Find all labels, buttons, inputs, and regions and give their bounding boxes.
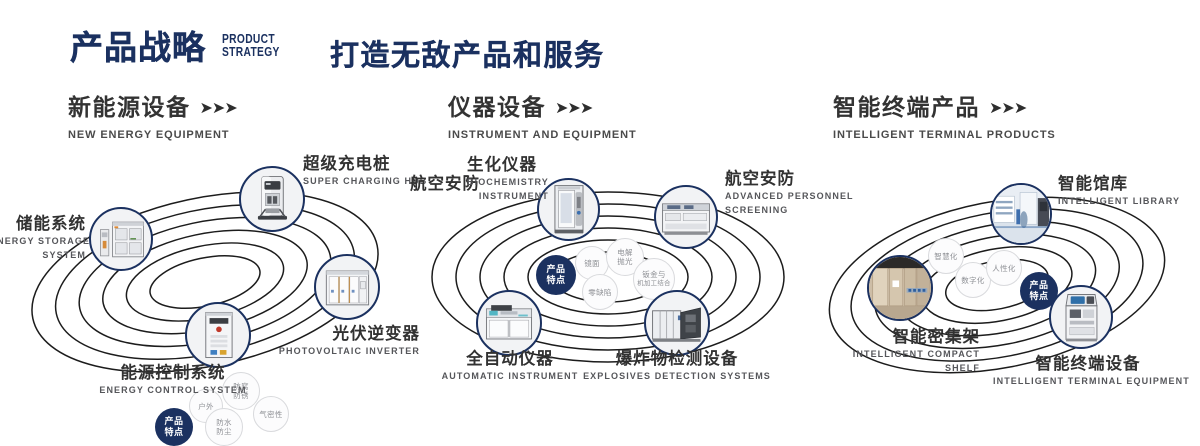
- control-cabinet-icon: [187, 304, 249, 366]
- node-label-cn: 智能馆库: [1058, 175, 1180, 194]
- inverter-cabinet-icon: [316, 256, 378, 318]
- diagram-instrument: 镜面 电解 抛光 零缺陷 钣金与 机加工结合 产品 特点 航空安防 生化仪器 B…: [400, 150, 820, 422]
- feature-text: 镜面: [584, 259, 600, 268]
- node-label-cn: 爆炸物检测设备: [582, 350, 772, 369]
- core-badge-line2: 特点: [1029, 291, 1048, 302]
- section-title-en: INTELLIGENT TERMINAL PRODUCTS: [833, 129, 1056, 141]
- battery-cabinet-icon: [91, 209, 151, 269]
- label-intelligent-terminal-equipment: 智能终端设备 INTELLIGENT TERMINAL EQUIPMENT: [993, 355, 1183, 388]
- core-badge-line2: 特点: [164, 427, 183, 438]
- feature-bubble: 气密性: [253, 396, 289, 432]
- feature-text: 钣金与: [642, 270, 665, 279]
- feature-text: 零缺陷: [588, 288, 611, 297]
- node-photovoltaic-inverter[interactable]: [314, 254, 380, 320]
- node-label-cn: 储能系统: [0, 215, 86, 234]
- page-title-cn: 产品战略: [70, 28, 206, 68]
- node-label-en: ENERGY CONTROL SYSTEM: [58, 385, 288, 397]
- label-energy-storage: 储能系统 ENERGY STORAGE SYSTEM: [0, 215, 86, 261]
- node-label-cn: 光伏逆变器: [225, 325, 420, 344]
- node-label-en-2: INSTRUMENT: [467, 191, 549, 203]
- node-label-en: BIOCHEMISTRY: [467, 177, 549, 189]
- feature-text: 户外: [198, 402, 214, 411]
- label-intelligent-library: 智能馆库 INTELLIGENT LIBRARY: [1058, 175, 1180, 208]
- node-intelligent-terminal-equipment[interactable]: [1049, 285, 1113, 349]
- node-energy-storage[interactable]: [89, 207, 153, 271]
- section-heading-instrument: 仪器设备➤➤➤ INSTRUMENT AND EQUIPMENT: [448, 94, 637, 141]
- feature-text: 防尘: [216, 427, 232, 436]
- node-label-cn: 智能密集架: [780, 328, 980, 347]
- node-label-cn: 全自动仪器: [410, 350, 610, 369]
- page-title-en: PRODUCT STRATEGY: [222, 33, 288, 59]
- node-label-en: INTELLIGENT LIBRARY: [1058, 196, 1180, 208]
- node-super-charging-hub[interactable]: [239, 166, 305, 232]
- diagram-intelligent-terminal: 智慧化 数字化 人性化 产品 特点 智能馆库 INTELLIGENT LIBRA…: [800, 150, 1200, 422]
- feature-text: 数字化: [961, 276, 984, 285]
- section-title-cn: 智能终端产品➤➤➤: [833, 94, 1056, 122]
- section-title-cn: 仪器设备➤➤➤: [448, 94, 637, 122]
- feature-bubble: 零缺陷: [582, 274, 618, 310]
- terminal-kiosk-icon: [1051, 287, 1111, 347]
- library-room-icon: [992, 185, 1050, 243]
- node-automatic-instrument[interactable]: [476, 290, 542, 356]
- label-energy-control-system: 能源控制系统 ENERGY CONTROL SYSTEM: [58, 364, 288, 397]
- charging-pile-icon: [241, 168, 303, 230]
- feature-text: 抛光: [617, 257, 633, 266]
- feature-text: 人性化: [992, 264, 1015, 273]
- auto-analyzer-icon: [478, 292, 540, 354]
- node-label-en: EXPLOSIVES DETECTION SYSTEMS: [582, 371, 772, 383]
- node-intelligent-compact-shelf[interactable]: [867, 255, 933, 321]
- feature-bubble: 防水 防尘: [205, 408, 243, 446]
- chevron-right-icon: ➤➤➤: [555, 96, 592, 122]
- label-explosives-detection: 爆炸物检测设备 EXPLOSIVES DETECTION SYSTEMS: [582, 350, 772, 383]
- node-label-en: AUTOMATIC INSTRUMENT: [410, 371, 610, 383]
- node-label-cn: 生化仪器: [467, 156, 549, 175]
- section-heading-new-energy: 新能源设备➤➤➤ NEW ENERGY EQUIPMENT: [68, 94, 237, 141]
- diagram-new-energy: 户外 防腐 防锈 防水 防尘 气密性 产品 特点 储能系统 ENERGY: [0, 150, 420, 422]
- screening-machine-icon: [656, 187, 716, 247]
- feature-text: 机加工结合: [637, 279, 670, 288]
- node-label-en: INTELLIGENT TERMINAL EQUIPMENT: [993, 376, 1183, 388]
- node-personnel-screening[interactable]: [654, 185, 718, 249]
- section-heading-intelligent-terminal: 智能终端产品➤➤➤ INTELLIGENT TERMINAL PRODUCTS: [833, 94, 1056, 141]
- core-badge-line1: 产品: [1029, 280, 1048, 291]
- section-title-en: NEW ENERGY EQUIPMENT: [68, 129, 237, 141]
- node-label-cn: 智能终端设备: [993, 355, 1183, 374]
- section-title-cn: 新能源设备➤➤➤: [68, 94, 237, 122]
- feature-text: 智慧化: [934, 252, 957, 261]
- label-photovoltaic-inverter: 光伏逆变器 PHOTOVOLTAIC INVERTER: [225, 325, 420, 358]
- core-badge: 产品 特点: [155, 408, 193, 446]
- label-intelligent-compact-shelf: 智能密集架 INTELLIGENT COMPACT SHELF: [780, 328, 980, 374]
- compact-shelf-icon: [869, 257, 931, 319]
- core-badge-line1: 产品: [546, 264, 565, 275]
- page-title-en-line2: STRATEGY: [222, 46, 288, 59]
- feature-text: 防水: [216, 418, 232, 427]
- feature-text: 电解: [617, 248, 633, 257]
- node-label-en-2: SYSTEM: [0, 250, 86, 262]
- node-label-en-2: SHELF: [780, 363, 980, 375]
- node-label-en: PHOTOVOLTAIC INVERTER: [225, 346, 420, 358]
- node-explosives-detection[interactable]: [644, 290, 710, 356]
- node-label-en: ENERGY STORAGE: [0, 236, 86, 248]
- node-label-cn: 能源控制系统: [58, 364, 288, 383]
- chevron-right-icon: ➤➤➤: [989, 96, 1026, 122]
- core-badge-line2: 特点: [546, 275, 565, 286]
- node-intelligent-library[interactable]: [990, 183, 1052, 245]
- label-automatic-instrument: 全自动仪器 AUTOMATIC INSTRUMENT: [410, 350, 610, 383]
- feature-bubble: 人性化: [986, 250, 1022, 286]
- label-biochemistry-instrument: 生化仪器 BIOCHEMISTRY INSTRUMENT: [467, 156, 549, 202]
- feature-text: 气密性: [259, 410, 282, 419]
- section-title-en: INSTRUMENT AND EQUIPMENT: [448, 129, 637, 141]
- node-energy-control-system[interactable]: [185, 302, 251, 368]
- page-header: 产品战略 PRODUCT STRATEGY 打造无敌产品和服务: [0, 0, 1200, 86]
- chevron-right-icon: ➤➤➤: [200, 96, 237, 122]
- explosive-detector-icon: [646, 292, 708, 354]
- core-badge: 产品 特点: [536, 255, 576, 295]
- node-label-en: INTELLIGENT COMPACT: [780, 349, 980, 361]
- page-subtitle: 打造无敌产品和服务: [330, 32, 605, 74]
